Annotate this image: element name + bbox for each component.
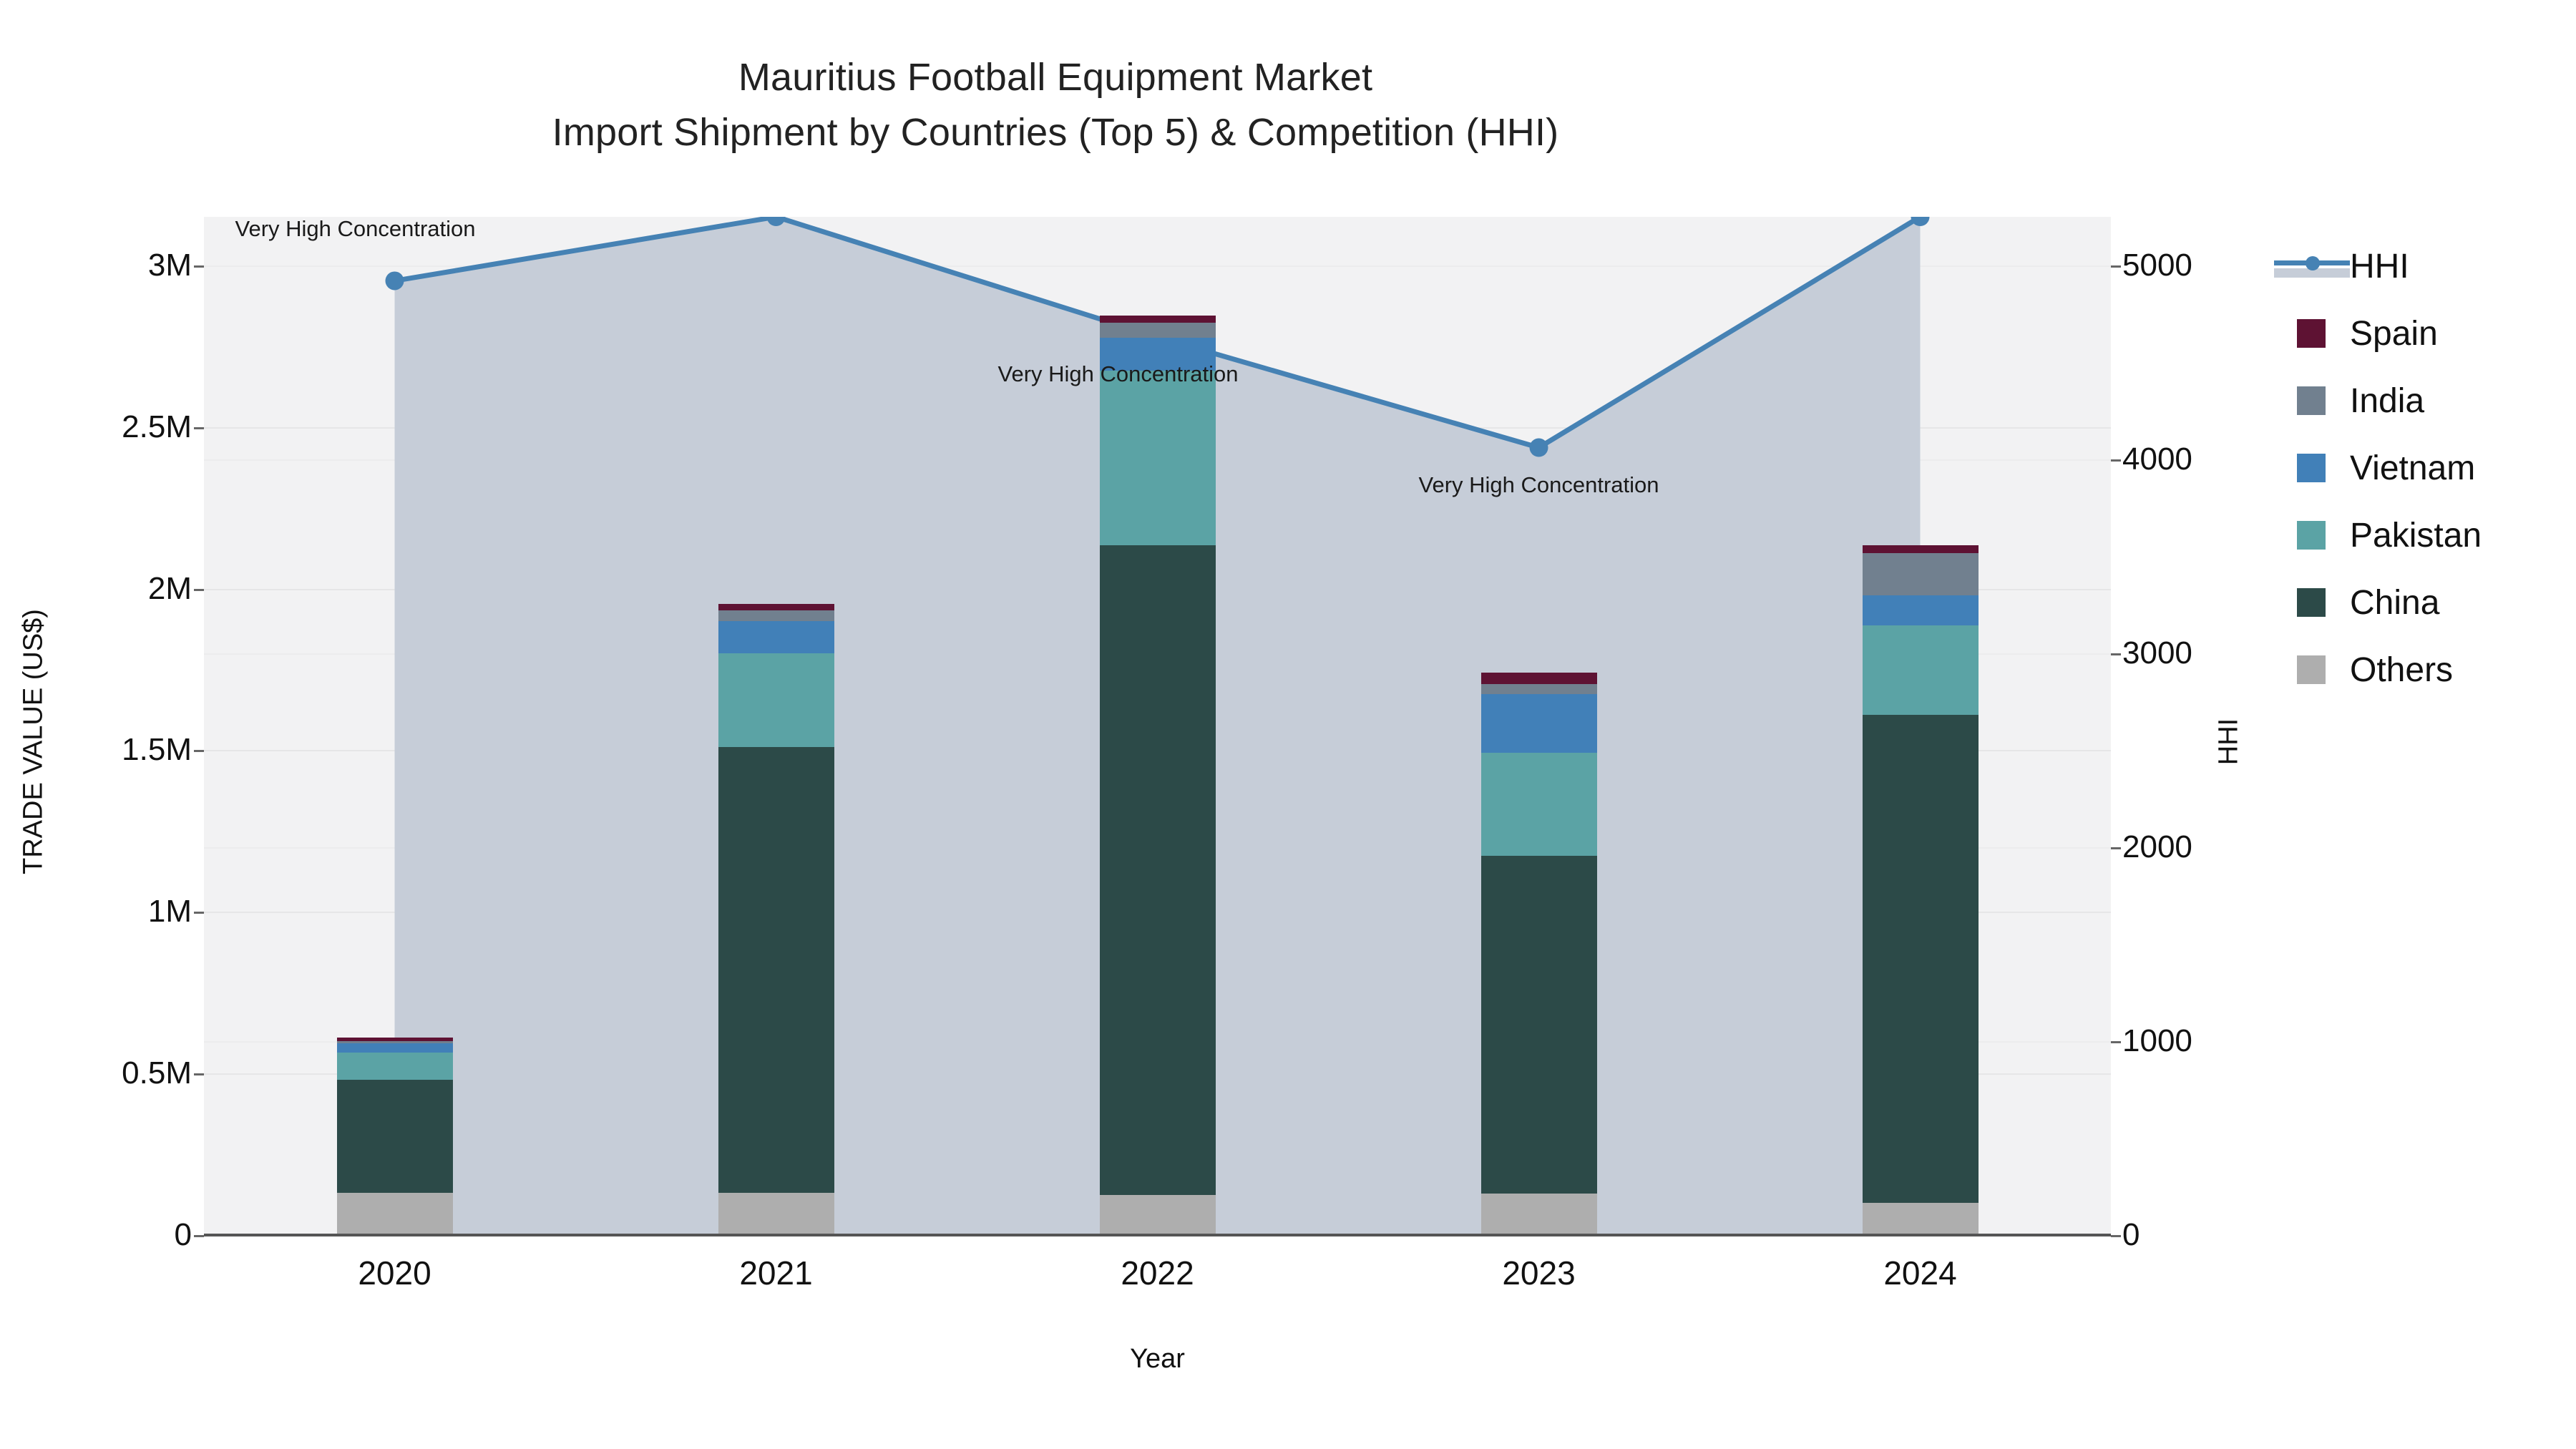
y-axis-left-tick-mark	[194, 265, 204, 268]
bar-segment-spain[interactable]	[1481, 673, 1597, 684]
legend-label: Vietnam	[2350, 449, 2475, 488]
bar-segment-pakistan[interactable]	[337, 1053, 453, 1080]
bar-segment-others[interactable]	[1863, 1203, 1979, 1235]
y-axis-right-tick-mark	[2111, 653, 2121, 655]
bar-segment-spain[interactable]	[1863, 545, 1979, 553]
hhi-annotation: Very High Concentration	[1418, 472, 1659, 498]
bar-segment-pakistan[interactable]	[1863, 625, 1979, 714]
bar-segment-vietnam[interactable]	[337, 1043, 453, 1053]
legend-item-hhi[interactable]: HHI	[2274, 233, 2575, 300]
bar-group[interactable]	[1100, 316, 1216, 1235]
legend-label: Spain	[2350, 314, 2438, 353]
plot-area: Very High ConcentrationVery High Concent…	[204, 217, 2111, 1235]
legend-swatch-china	[2297, 588, 2326, 617]
bar-segment-spain[interactable]	[1100, 316, 1216, 323]
bar-group[interactable]	[1863, 545, 1979, 1235]
hhi-data-point[interactable]	[1530, 439, 1548, 457]
bar-segment-pakistan[interactable]	[1481, 753, 1597, 857]
bar-segment-spain[interactable]	[337, 1038, 453, 1041]
bar-group[interactable]	[1481, 673, 1597, 1235]
legend-item-india[interactable]: India	[2274, 367, 2575, 434]
legend-swatch-india	[2297, 386, 2326, 415]
bar-group[interactable]	[337, 1038, 453, 1235]
y-axis-right-tick-mark	[2111, 1041, 2121, 1043]
chart-figure: Mauritius Football Equipment Market Impo…	[0, 0, 2576, 1449]
bar-segment-others[interactable]	[1481, 1194, 1597, 1235]
y-axis-right-tick-mark	[2111, 459, 2121, 462]
legend-label: India	[2350, 381, 2424, 421]
bar-segment-china[interactable]	[337, 1080, 453, 1193]
legend-label: Pakistan	[2350, 516, 2482, 555]
legend-label: Others	[2350, 650, 2453, 690]
bar-segment-china[interactable]	[1863, 715, 1979, 1203]
bar-segment-india[interactable]	[337, 1041, 453, 1044]
y-axis-right-tick-mark	[2111, 1235, 2121, 1237]
x-axis-tick-label: 2022	[1121, 1254, 1194, 1292]
y-axis-left-tick-mark	[194, 1073, 204, 1075]
bar-segment-pakistan[interactable]	[718, 653, 834, 747]
chart-title-line-2: Import Shipment by Countries (Top 5) & C…	[0, 105, 2111, 160]
legend: HHISpainIndiaVietnamPakistanChinaOthers	[2274, 233, 2575, 703]
bar-segment-vietnam[interactable]	[1481, 694, 1597, 752]
bar-segment-pakistan[interactable]	[1100, 371, 1216, 545]
legend-swatch-pakistan	[2297, 521, 2326, 550]
bar-group[interactable]	[718, 604, 834, 1235]
legend-line-marker-icon	[2274, 251, 2350, 281]
y-axis-left-tick-label: 3M	[0, 248, 192, 283]
y-axis-left-tick-mark	[194, 750, 204, 752]
bar-segment-others[interactable]	[1100, 1195, 1216, 1235]
y-axis-left-tick-mark	[194, 912, 204, 914]
legend-swatch-others	[2297, 655, 2326, 684]
bar-segment-china[interactable]	[718, 747, 834, 1193]
bar-segment-india[interactable]	[1100, 323, 1216, 338]
legend-swatch-vietnam	[2297, 454, 2326, 482]
y-axis-right-title: HHI	[2214, 599, 2245, 885]
x-axis-line	[204, 1234, 2111, 1236]
bar-segment-vietnam[interactable]	[1863, 595, 1979, 626]
x-axis-tick-label: 2021	[739, 1254, 812, 1292]
bar-segment-china[interactable]	[1481, 856, 1597, 1194]
bar-segment-others[interactable]	[337, 1193, 453, 1235]
legend-item-china[interactable]: China	[2274, 569, 2575, 636]
legend-swatch-spain	[2297, 319, 2326, 348]
y-axis-right-tick-label: 1000	[2122, 1023, 2308, 1059]
bar-segment-india[interactable]	[1481, 684, 1597, 694]
bar-segment-vietnam[interactable]	[718, 621, 834, 653]
y-axis-left-title: TRADE VALUE (US$)	[19, 420, 49, 1064]
hhi-data-point[interactable]	[386, 271, 404, 290]
legend-item-pakistan[interactable]: Pakistan	[2274, 502, 2575, 569]
y-axis-left-tick-label: 0	[0, 1217, 192, 1253]
bar-segment-spain[interactable]	[718, 604, 834, 610]
bar-segment-india[interactable]	[1863, 553, 1979, 595]
x-axis-tick-label: 2023	[1502, 1254, 1575, 1292]
chart-title-line-1: Mauritius Football Equipment Market	[0, 50, 2111, 105]
y-axis-left-tick-mark	[194, 589, 204, 591]
y-axis-right-tick-label: 0	[2122, 1217, 2308, 1253]
x-axis-tick-label: 2020	[358, 1254, 431, 1292]
legend-label: China	[2350, 583, 2439, 623]
y-axis-right-tick-mark	[2111, 265, 2121, 268]
legend-item-spain[interactable]: Spain	[2274, 300, 2575, 367]
bar-segment-china[interactable]	[1100, 545, 1216, 1195]
legend-label: HHI	[2350, 247, 2409, 286]
x-axis-title: Year	[204, 1344, 2111, 1375]
x-axis-tick-label: 2024	[1883, 1254, 1956, 1292]
legend-item-others[interactable]: Others	[2274, 636, 2575, 703]
y-axis-left-tick-mark	[194, 427, 204, 429]
legend-line-dot	[2306, 256, 2320, 270]
bar-segment-india[interactable]	[718, 610, 834, 620]
chart-title: Mauritius Football Equipment Market Impo…	[0, 50, 2111, 160]
bar-segment-others[interactable]	[718, 1193, 834, 1235]
y-axis-left-tick-mark	[194, 1235, 204, 1237]
hhi-annotation: Very High Concentration	[997, 361, 1238, 387]
hhi-annotation: Very High Concentration	[235, 217, 475, 242]
legend-item-vietnam[interactable]: Vietnam	[2274, 434, 2575, 502]
y-axis-right-tick-mark	[2111, 847, 2121, 849]
